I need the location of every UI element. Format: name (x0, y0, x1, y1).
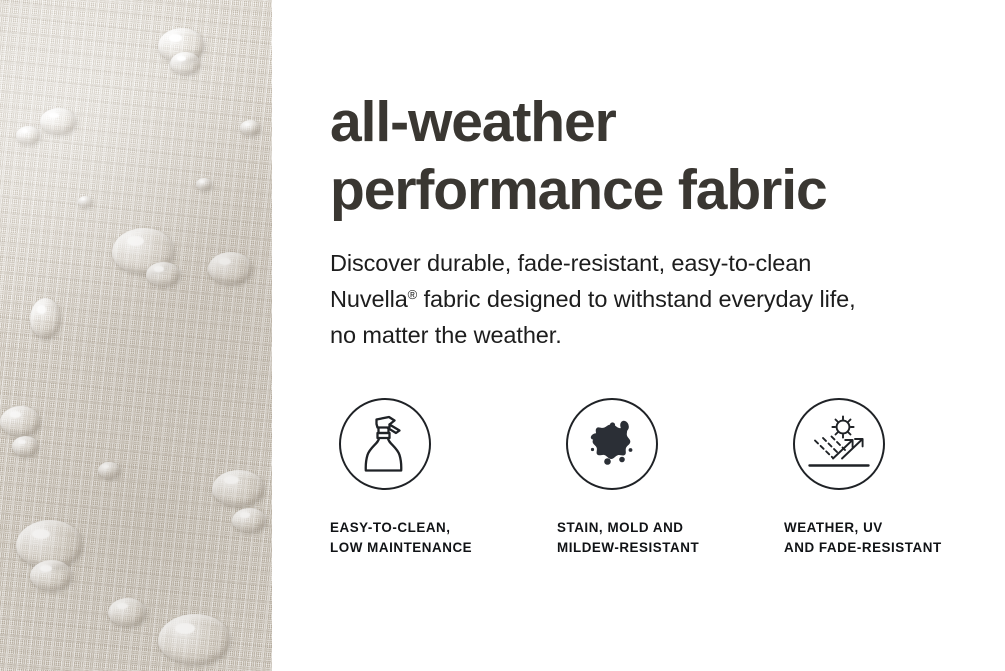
feature-caption-line-1: EASY-TO-CLEAN, (330, 518, 557, 538)
fabric-promo-banner: all-weather performance fabric Discover … (0, 0, 1005, 671)
fabric-lighting-overlay (0, 0, 272, 671)
promo-content: all-weather performance fabric Discover … (330, 0, 1005, 671)
feature-caption-line-2: LOW MAINTENANCE (330, 538, 557, 558)
fabric-photo (0, 0, 272, 671)
headline-line-1: all-weather (330, 88, 990, 156)
feature-caption-line-1: STAIN, MOLD AND (557, 518, 784, 538)
spray-bottle-icon (356, 413, 414, 475)
feature-caption-line-2: AND FADE-RESISTANT (784, 538, 1005, 558)
feature-badge-circle (339, 398, 431, 490)
feature-caption: STAIN, MOLD AND MILDEW-RESISTANT (557, 518, 784, 558)
brand-name: Nuvella (330, 286, 408, 312)
feature-weather-uv-resistant: WEATHER, UV AND FADE-RESISTANT (784, 398, 1005, 558)
feature-caption: WEATHER, UV AND FADE-RESISTANT (784, 518, 1005, 558)
description-line-3: no matter the weather. (330, 317, 970, 353)
feature-easy-to-clean: EASY-TO-CLEAN, LOW MAINTENANCE (330, 398, 557, 558)
feature-caption: EASY-TO-CLEAN, LOW MAINTENANCE (330, 518, 557, 558)
feature-badge-circle (793, 398, 885, 490)
page-title: all-weather performance fabric (330, 88, 990, 224)
feature-list: EASY-TO-CLEAN, LOW MAINTENANCE (330, 398, 1005, 558)
headline-line-2: performance fabric (330, 156, 990, 224)
feature-caption-line-2: MILDEW-RESISTANT (557, 538, 784, 558)
feature-caption-line-1: WEATHER, UV (784, 518, 1005, 538)
registered-trademark-icon: ® (408, 287, 417, 302)
description-line-2-rest: fabric designed to withstand everyday li… (417, 286, 855, 312)
description-line-1: Discover durable, fade-resistant, easy-t… (330, 245, 970, 281)
description-line-2: Nuvella® fabric designed to withstand ev… (330, 281, 970, 317)
stain-splat-icon (582, 415, 642, 473)
sun-uv-reflect-icon (807, 415, 871, 473)
feature-stain-resistant: STAIN, MOLD AND MILDEW-RESISTANT (557, 398, 784, 558)
feature-badge-circle (566, 398, 658, 490)
description-text: Discover durable, fade-resistant, easy-t… (330, 245, 970, 353)
